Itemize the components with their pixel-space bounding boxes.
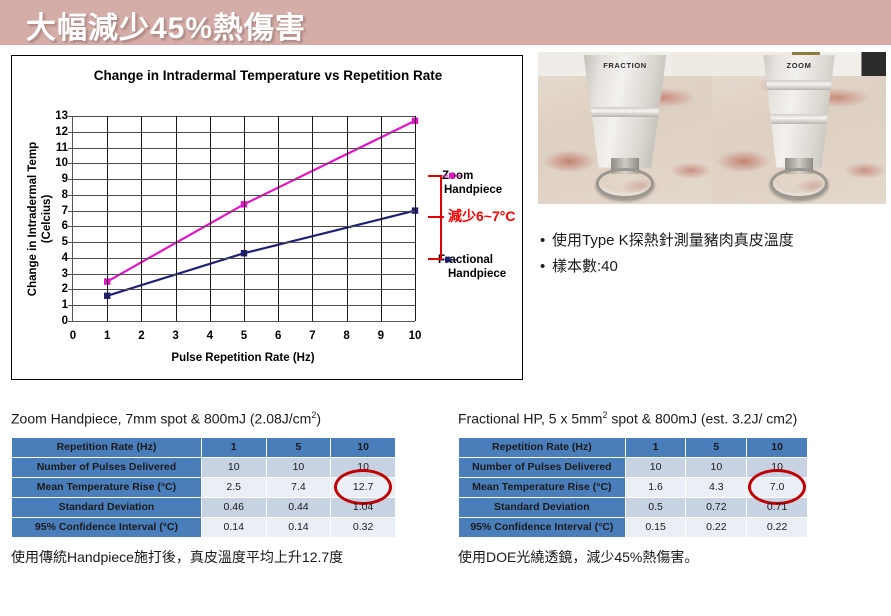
table-row-label: Standard Deviation <box>12 498 201 517</box>
photo-label-zoom: ZOOM <box>712 61 886 70</box>
table-column-header: 10 <box>747 438 807 457</box>
chart-x-tick-label: 10 <box>409 330 422 342</box>
table-row: Standard Deviation0.50.720.71 <box>459 498 807 517</box>
chart-y-tickmark <box>68 305 73 306</box>
table-cell: 0.14 <box>267 518 331 537</box>
chart-gridline-vertical <box>415 116 416 321</box>
y-axis-label-line2: (Celcius) <box>41 194 53 243</box>
table-row: 95% Confidence Interval (°C)0.150.220.22 <box>459 518 807 537</box>
table-cell-value: 10 <box>357 461 369 473</box>
legend-item-zoom-handpiece: –■– Zoom Handpiece <box>442 169 520 197</box>
table-row: Mean Temperature Rise (°C)1.64.37.0 <box>459 478 807 497</box>
table-cell: 0.44 <box>267 498 331 517</box>
chart-y-tickmark <box>68 179 73 180</box>
table-cell: 4.3 <box>686 478 746 497</box>
table-cell-value: 10 <box>771 461 783 473</box>
table-cell: 7.0 <box>747 478 807 497</box>
photo-fractional-handpiece: FRACTION <box>538 52 712 204</box>
chart-y-tick-label: 4 <box>62 252 68 264</box>
legend-item-fractional-handpiece: –■– Fractional Handpiece <box>438 253 522 281</box>
chart-y-tick-label: 13 <box>55 110 68 122</box>
legend-label-fractional-line2: Handpiece <box>448 268 506 280</box>
bullet-dot-icon: • <box>540 254 545 280</box>
table-cell-value: 7.0 <box>770 481 785 493</box>
chart-y-axis-label: Change in Intradermal Temp (Celcius) <box>20 116 60 321</box>
table-caption-zoom-prefix: Zoom Handpiece, 7mm spot & 800mJ (2.08J/… <box>11 411 311 427</box>
chart-y-tick-label: 9 <box>62 173 68 185</box>
chart-x-tick-label: 6 <box>275 330 281 342</box>
table-row: Mean Temperature Rise (°C)2.57.412.7 <box>12 478 395 497</box>
list-item: • 使用Type K探熱針測量豬肉真皮溫度 <box>540 228 890 254</box>
photo-label-fraction: FRACTION <box>538 61 712 70</box>
chart-y-tick-label: 2 <box>62 283 68 295</box>
table-row-label: Mean Temperature Rise (°C) <box>12 478 201 497</box>
table-row: Number of Pulses Delivered101010 <box>12 458 395 477</box>
chart-y-tickmark <box>68 163 73 164</box>
table-cell-value: 4.3 <box>709 481 724 493</box>
table-cell: 10 <box>267 458 331 477</box>
table-caption-fractional: Fractional HP, 5 x 5mm2 spot & 800mJ (es… <box>458 410 878 427</box>
table-cell-value: 0.14 <box>288 521 308 533</box>
table-fractional-handpiece: Repetition Rate (Hz)1510Number of Pulses… <box>458 437 808 538</box>
chart-y-tickmark <box>68 211 73 212</box>
chart-y-tickmark <box>68 132 73 133</box>
chart-y-tick-label: 3 <box>62 268 68 280</box>
page-title: 大幅減少45%熱傷害 <box>26 3 306 47</box>
slide-root: 大幅減少45%熱傷害 Change in Intradermal Tempera… <box>0 0 891 616</box>
chart-gridline-vertical <box>107 116 108 321</box>
list-item: • 樣本數:40 <box>540 254 890 280</box>
chart-gridline-vertical <box>312 116 313 321</box>
table-cell-value: 1.6 <box>648 481 663 493</box>
chart-y-tickmark <box>68 274 73 275</box>
table-column-header: 5 <box>267 438 331 457</box>
y-axis-label-line1: Change in Intradermal Temp <box>27 141 39 295</box>
table-column-header: 1 <box>626 438 686 457</box>
chart-panel: Change in Intradermal Temperature vs Rep… <box>11 55 523 380</box>
chart-gridline-vertical <box>347 116 348 321</box>
chart-y-tick-label: 12 <box>55 126 68 138</box>
table-cell-value: 0.46 <box>224 501 244 513</box>
bullet-dot-icon: • <box>540 228 545 254</box>
delta-annotation: 減少6~7°C <box>448 206 515 226</box>
chart-y-tick-label: 7 <box>62 205 68 217</box>
table-cell: 1.6 <box>626 478 686 497</box>
table-cell-value: 10 <box>650 461 662 473</box>
chart-gridline-vertical <box>244 116 245 321</box>
table-caption-fractional-suffix: spot & 800mJ (est. 3.2J/ cm2) <box>607 411 797 427</box>
table-caption-zoom: Zoom Handpiece, 7mm spot & 800mJ (2.08J/… <box>11 410 436 427</box>
bullet-text: 使用Type K探熱針測量豬肉真皮溫度 <box>552 232 794 249</box>
table-cell: 0.71 <box>747 498 807 517</box>
table-header-row: Repetition Rate (Hz)1510 <box>12 438 395 457</box>
table-zoom-handpiece: Repetition Rate (Hz)1510Number of Pulses… <box>11 437 396 538</box>
chart-y-tick-label: 5 <box>62 236 68 248</box>
chart-y-tickmark <box>68 148 73 149</box>
chart-plot-area: 012345678910111213012345678910 <box>72 116 415 322</box>
table-cell-value: 2.5 <box>226 481 241 493</box>
chart-y-tickmark <box>68 116 73 117</box>
chart-x-tick-label: 4 <box>207 330 213 342</box>
table-cell: 1.04 <box>331 498 395 517</box>
chart-gridline-vertical <box>141 116 142 321</box>
table-cell: 12.7 <box>331 478 395 497</box>
table-cell: 0.22 <box>747 518 807 537</box>
table-cell: 0.14 <box>202 518 266 537</box>
chart-x-tick-label: 7 <box>309 330 315 342</box>
table-note-zoom: 使用傳統Handpiece施打後，真皮溫度平均上升12.7度 <box>11 547 436 567</box>
table-row-label: 95% Confidence Interval (°C) <box>459 518 625 537</box>
table-cell-value: 12.7 <box>353 481 373 493</box>
chart-y-tickmark <box>68 289 73 290</box>
chart-x-axis-label: Pulse Repetition Rate (Hz) <box>72 352 414 364</box>
chart-y-tick-label: 8 <box>62 189 68 201</box>
table-cell: 10 <box>626 458 686 477</box>
table-cell: 10 <box>331 458 395 477</box>
chart-x-tick-label: 0 <box>70 330 76 342</box>
table-cell-value: 0.14 <box>224 521 244 533</box>
legend-label-zoom-line2: Handpiece <box>444 184 502 196</box>
table-row-label: Number of Pulses Delivered <box>12 458 201 477</box>
table-column-header: 5 <box>686 438 746 457</box>
chart-line-series-1 <box>107 211 415 296</box>
table-cell: 0.22 <box>686 518 746 537</box>
table-column-header: 1 <box>202 438 266 457</box>
zoom-handpiece-table-block: Zoom Handpiece, 7mm spot & 800mJ (2.08J/… <box>11 410 436 567</box>
chart-x-tick-label: 9 <box>378 330 384 342</box>
table-cell: 0.15 <box>626 518 686 537</box>
delta-bracket-tick <box>428 216 444 218</box>
chart-gridline-vertical <box>210 116 211 321</box>
chart-y-tickmark <box>68 321 73 322</box>
handpiece-photos: FRACTION ZOOM <box>538 52 886 204</box>
table-corner-header: Repetition Rate (Hz) <box>459 438 625 457</box>
chart-y-tick-label: 11 <box>56 142 68 154</box>
table-cell: 10 <box>747 458 807 477</box>
table-cell-value: 7.4 <box>291 481 306 493</box>
chart-title: Change in Intradermal Temperature vs Rep… <box>12 68 524 83</box>
table-corner-header: Repetition Rate (Hz) <box>12 438 201 457</box>
table-cell-value: 1.04 <box>353 501 373 513</box>
table-caption-fractional-prefix: Fractional HP, 5 x 5mm <box>458 411 602 427</box>
legend-swatch-zoom: –■– <box>442 169 462 183</box>
chart-y-tick-label: 10 <box>55 157 68 169</box>
table-row-label: 95% Confidence Interval (°C) <box>12 518 201 537</box>
chart-x-tick-label: 8 <box>343 330 349 342</box>
table-cell-value: 10 <box>293 461 305 473</box>
table-note-fractional: 使用DOE光繞透鏡，減少45%熱傷害。 <box>458 547 878 567</box>
title-banner: 大幅減少45%熱傷害 <box>0 0 891 45</box>
table-cell: 0.72 <box>686 498 746 517</box>
chart-y-tick-label: 1 <box>62 299 68 311</box>
chart-y-tickmark <box>68 242 73 243</box>
table-cell: 2.5 <box>202 478 266 497</box>
table-cell: 0.46 <box>202 498 266 517</box>
chart-gridline-vertical <box>278 116 279 321</box>
table-cell-value: 0.5 <box>648 501 663 513</box>
chart-x-tick-label: 5 <box>241 330 247 342</box>
chart-x-tick-label: 3 <box>172 330 178 342</box>
table-column-header: 10 <box>331 438 395 457</box>
table-cell-value: 0.22 <box>767 521 787 533</box>
table-cell-value: 0.71 <box>767 501 787 513</box>
table-header-row: Repetition Rate (Hz)1510 <box>459 438 807 457</box>
table-row: Standard Deviation0.460.441.04 <box>12 498 395 517</box>
handpiece-spacer-ring-left <box>596 168 654 200</box>
chart-gridline-vertical <box>381 116 382 321</box>
chart-y-tickmark <box>68 195 73 196</box>
table-cell-value: 0.44 <box>288 501 308 513</box>
table-cell: 0.32 <box>331 518 395 537</box>
method-bullet-list: • 使用Type K探熱針測量豬肉真皮溫度 • 樣本數:40 <box>540 228 890 280</box>
table-caption-zoom-suffix: ) <box>316 411 321 427</box>
table-cell: 7.4 <box>267 478 331 497</box>
table-cell-value: 10 <box>711 461 723 473</box>
chart-y-tickmark <box>68 258 73 259</box>
chart-x-tick-label: 1 <box>104 330 110 342</box>
table-row-label: Mean Temperature Rise (°C) <box>459 478 625 497</box>
table-cell: 10 <box>686 458 746 477</box>
table-cell-value: 10 <box>228 461 240 473</box>
chart-y-tick-label: 0 <box>62 315 68 327</box>
table-cell-value: 0.22 <box>706 521 726 533</box>
table-cell: 0.5 <box>626 498 686 517</box>
photo-zoom-handpiece: ZOOM <box>712 52 886 204</box>
fractional-handpiece-table-block: Fractional HP, 5 x 5mm2 spot & 800mJ (es… <box>458 410 878 567</box>
chart-x-tick-label: 2 <box>138 330 144 342</box>
table-row-label: Number of Pulses Delivered <box>459 458 625 477</box>
table-cell-value: 0.15 <box>645 521 665 533</box>
table-row: 95% Confidence Interval (°C)0.140.140.32 <box>12 518 395 537</box>
chart-gridline-vertical <box>176 116 177 321</box>
handpiece-spacer-ring-right <box>770 168 828 200</box>
chart-y-tick-label: 6 <box>62 220 68 232</box>
table-row: Number of Pulses Delivered101010 <box>459 458 807 477</box>
table-cell-value: 0.72 <box>706 501 726 513</box>
chart-y-tickmark <box>68 226 73 227</box>
bullet-text: 樣本數:40 <box>552 258 618 275</box>
handpiece-ring-left <box>578 107 672 117</box>
table-row-label: Standard Deviation <box>459 498 625 517</box>
table-cell: 10 <box>202 458 266 477</box>
table-cell-value: 0.32 <box>353 521 373 533</box>
